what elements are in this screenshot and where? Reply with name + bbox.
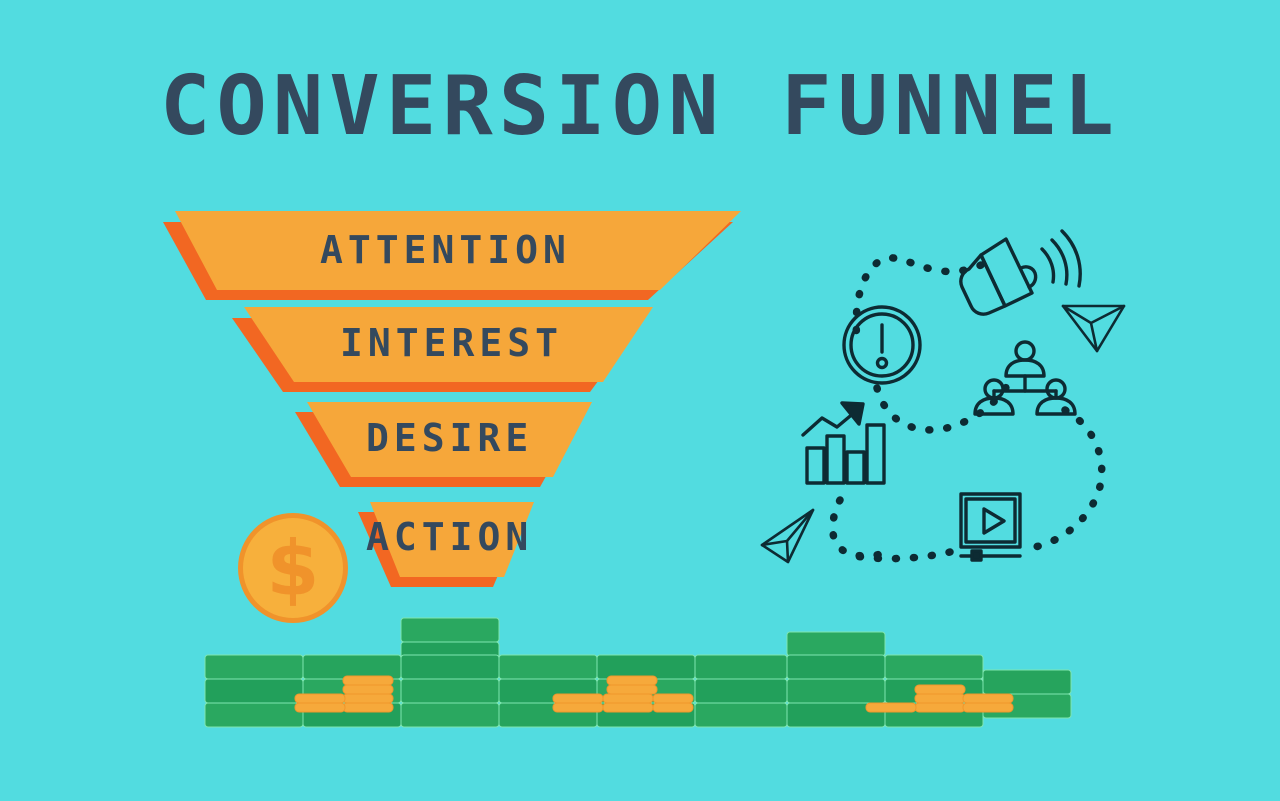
paper-plane-icon-2 xyxy=(762,510,813,562)
video-player-icon xyxy=(961,494,1020,560)
person-body-top xyxy=(1006,360,1044,376)
dotted-path-right xyxy=(1028,410,1102,548)
dotted-path-left xyxy=(833,500,886,556)
video-player-frame-inner xyxy=(966,499,1015,542)
bar-chart-bar-2 xyxy=(827,436,844,483)
megaphone-icon xyxy=(961,231,1080,314)
people-network-icon xyxy=(975,342,1075,414)
video-player-play-triangle xyxy=(984,509,1004,533)
alert-exclamation-dot xyxy=(878,359,887,368)
dotted-path-upper xyxy=(856,258,981,340)
marketing-icon-illustration xyxy=(0,0,1280,801)
megaphone-wave-1 xyxy=(1042,249,1054,282)
bar-chart-growth-icon xyxy=(803,403,884,483)
alert-circle-icon xyxy=(844,307,920,383)
dotted-path-lower xyxy=(855,552,950,559)
video-player-progress-handle xyxy=(972,551,981,560)
bar-chart-trend-line xyxy=(803,412,855,435)
bar-chart-bar-1 xyxy=(807,448,824,483)
video-player-frame-outer xyxy=(961,494,1020,547)
bar-chart-bar-3 xyxy=(847,452,864,483)
paper-plane-icon xyxy=(1063,306,1124,351)
poster-canvas: CONVERSION FUNNEL ATTENTION INTEREST DES… xyxy=(0,0,1280,801)
bar-chart-bar-4 xyxy=(867,425,884,483)
dotted-path-middle xyxy=(877,381,1013,430)
person-head-top xyxy=(1016,342,1034,360)
